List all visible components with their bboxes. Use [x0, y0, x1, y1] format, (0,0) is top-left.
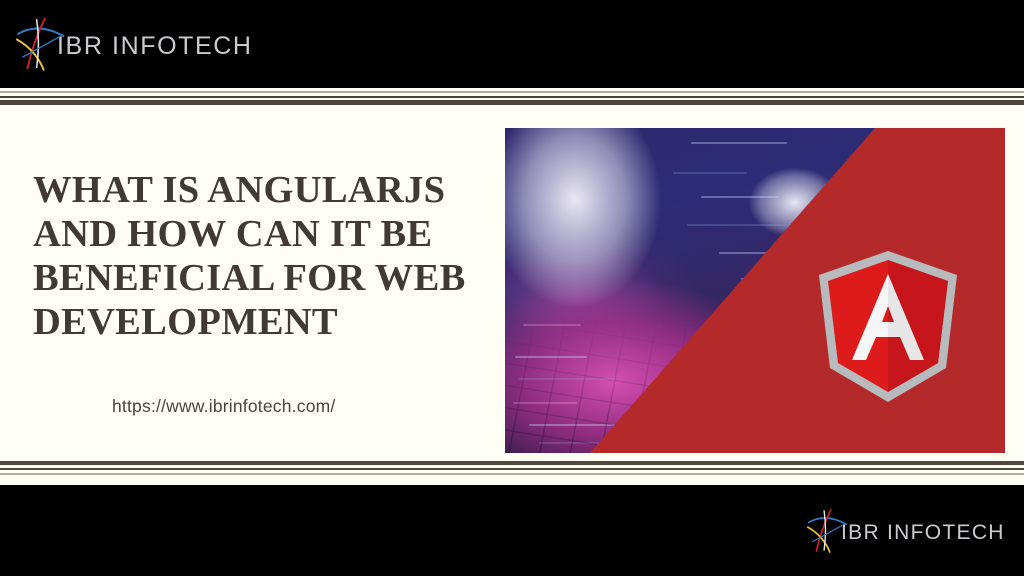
- ibr-star-logo-icon: [802, 506, 850, 554]
- slide-canvas: IBR INFOTECH What is AngularJS and how c…: [0, 0, 1024, 576]
- page-title: What is AngularJS and how can it be bene…: [33, 168, 503, 344]
- ibr-star-logo-icon: [10, 14, 68, 72]
- header-brand-logo: IBR INFOTECH: [10, 14, 253, 72]
- divider-top: [0, 88, 1024, 105]
- website-url[interactable]: https://www.ibrinfotech.com/: [112, 396, 335, 417]
- header-brand-wordmark: IBR INFOTECH: [57, 32, 253, 61]
- media-panel: [505, 128, 1005, 453]
- footer-brand-wordmark: IBR INFOTECH: [841, 521, 1005, 545]
- angularjs-shield-icon: [814, 248, 962, 406]
- divider-bottom: [0, 458, 1024, 478]
- footer-brand-logo: IBR INFOTECH: [802, 506, 1005, 554]
